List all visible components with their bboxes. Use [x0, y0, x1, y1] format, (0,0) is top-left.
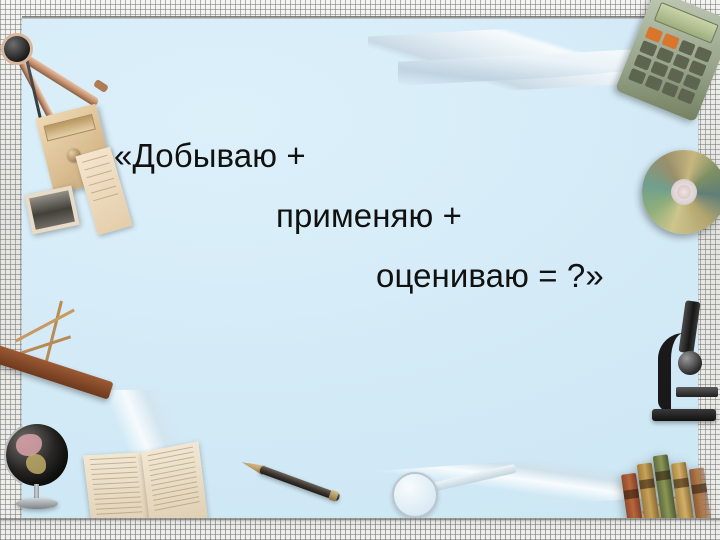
- bottom-frame-strip: [0, 518, 720, 540]
- slide-text-line-1: «Добываю +: [26, 126, 694, 186]
- presentation-slide: «Добываю + применяю + оцениваю = ?»: [0, 0, 720, 540]
- slide-text-block: «Добываю + применяю + оцениваю = ?»: [0, 126, 720, 306]
- sheet-top-edge: [22, 16, 698, 19]
- slide-text-line-2: применяю +: [26, 186, 694, 246]
- slide-text-line-3: оцениваю = ?»: [26, 246, 694, 306]
